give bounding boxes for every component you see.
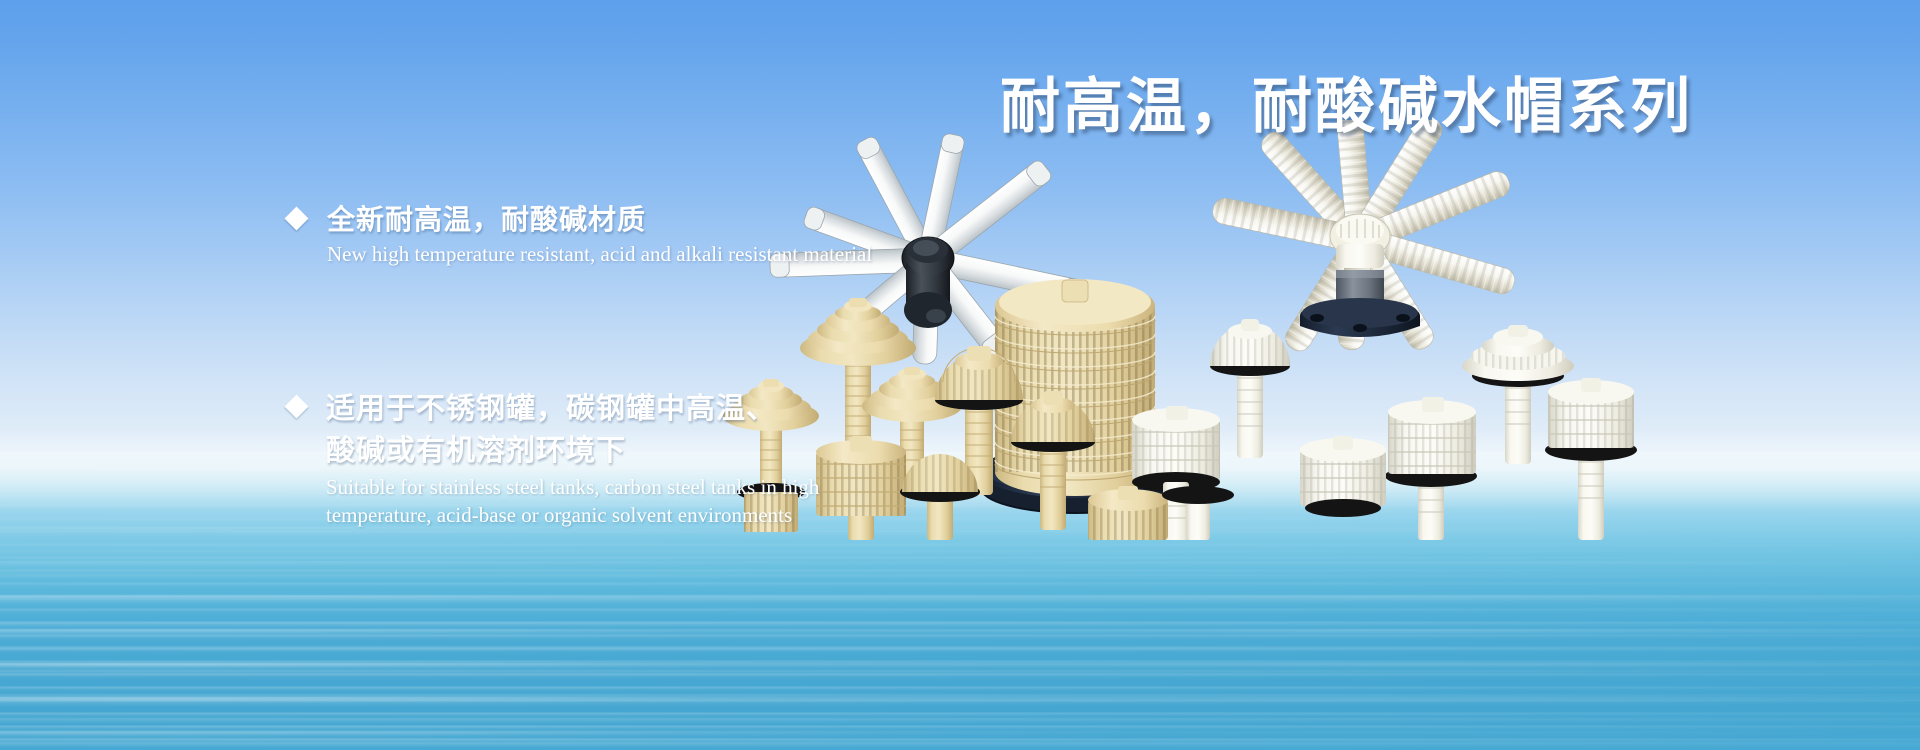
ribbed-barrel-nozzle bbox=[1300, 436, 1386, 517]
threaded-stem-nozzle bbox=[1545, 378, 1637, 540]
feature-1-english-line-1: New high temperature resistant, acid and… bbox=[327, 242, 872, 267]
product-cluster-image bbox=[700, 120, 1920, 540]
feature-bullet-2: 适用于不锈钢罐，碳钢罐中高温、 酸碱或有机溶剂环境下 Suitable for … bbox=[288, 388, 819, 528]
diamond-bullet-icon bbox=[284, 394, 308, 418]
feature-bullet-1: 全新耐高温，耐酸碱材质 New high temperature resista… bbox=[288, 200, 872, 267]
ribbed-barrel-nozzle bbox=[1088, 486, 1168, 540]
page-title: 耐高温，耐酸碱水帽系列 bbox=[1000, 58, 1693, 145]
feature-2-english-line-2: temperature, acid-base or organic solven… bbox=[326, 503, 819, 528]
feature-1-chinese-line-1: 全新耐高温，耐酸碱材质 bbox=[327, 200, 872, 240]
feature-2-chinese-line-1: 适用于不锈钢罐，碳钢罐中高温、 bbox=[326, 388, 819, 430]
diamond-bullet-icon bbox=[284, 206, 308, 230]
feature-2-english-line-1: Suitable for stainless steel tanks, carb… bbox=[326, 475, 819, 500]
product-banner: 耐高温，耐酸碱水帽系列 全新耐高温，耐酸碱材质 New high tempera… bbox=[0, 0, 1920, 750]
dome-cap-nozzle-with-oring bbox=[900, 454, 980, 540]
feature-2-chinese-line-2: 酸碱或有机溶剂环境下 bbox=[326, 430, 819, 472]
ribbed-barrel-nozzle bbox=[816, 436, 906, 540]
threaded-stem-nozzle bbox=[1210, 319, 1290, 458]
ribbed-barrel-nozzle bbox=[1385, 397, 1477, 540]
